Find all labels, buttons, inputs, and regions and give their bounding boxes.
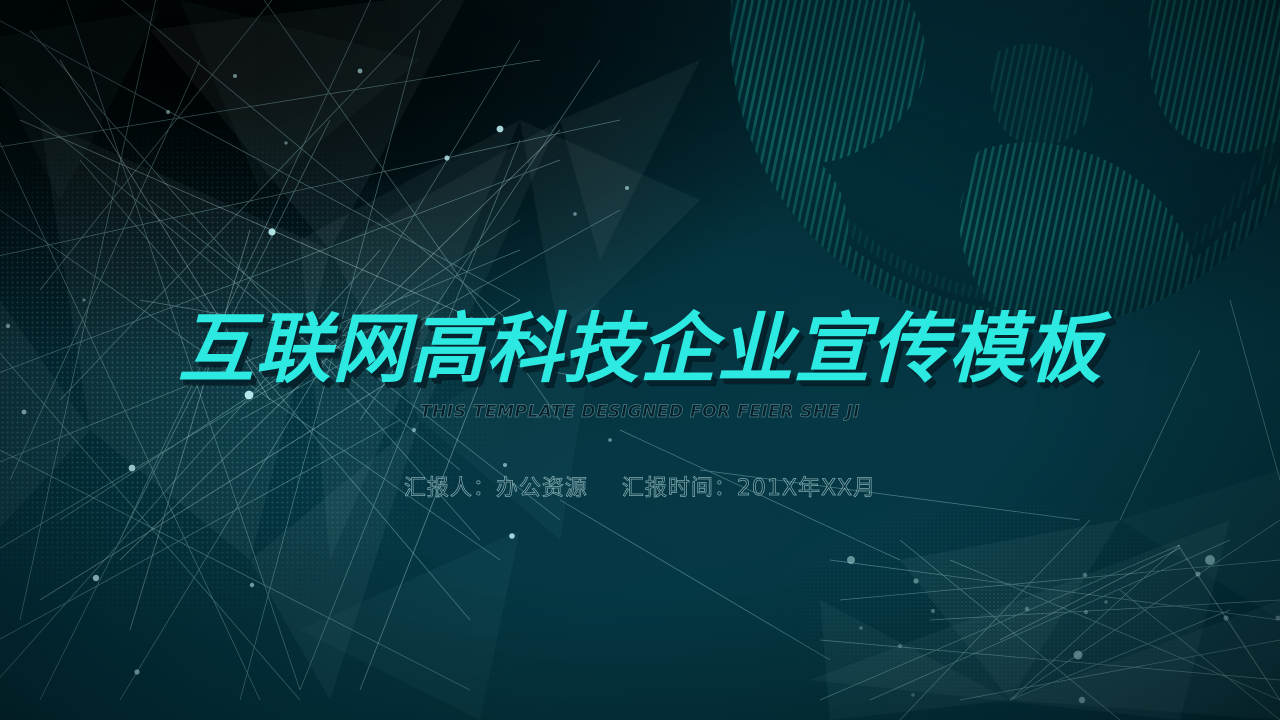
presenter-info-line: 汇报人：办公资源 汇报时间：201X年XX月	[0, 470, 1280, 502]
presentation-title-slide: 互联网高科技企业宣传模板 THIS TEMPLATE DESIGNED FOR …	[0, 0, 1280, 720]
page-title: 互联网高科技企业宣传模板	[0, 310, 1280, 388]
globe-continents	[730, 0, 1280, 351]
globe-body	[730, 0, 1280, 330]
date-label: 汇报时间：201X年XX月	[622, 476, 876, 501]
subtitle-english: THIS TEMPLATE DESIGNED FOR FEIER SHE JI	[0, 402, 1280, 422]
title-text-block: 互联网高科技企业宣传模板 THIS TEMPLATE DESIGNED FOR …	[0, 310, 1280, 502]
presenter-label: 汇报人：办公资源	[404, 476, 588, 501]
